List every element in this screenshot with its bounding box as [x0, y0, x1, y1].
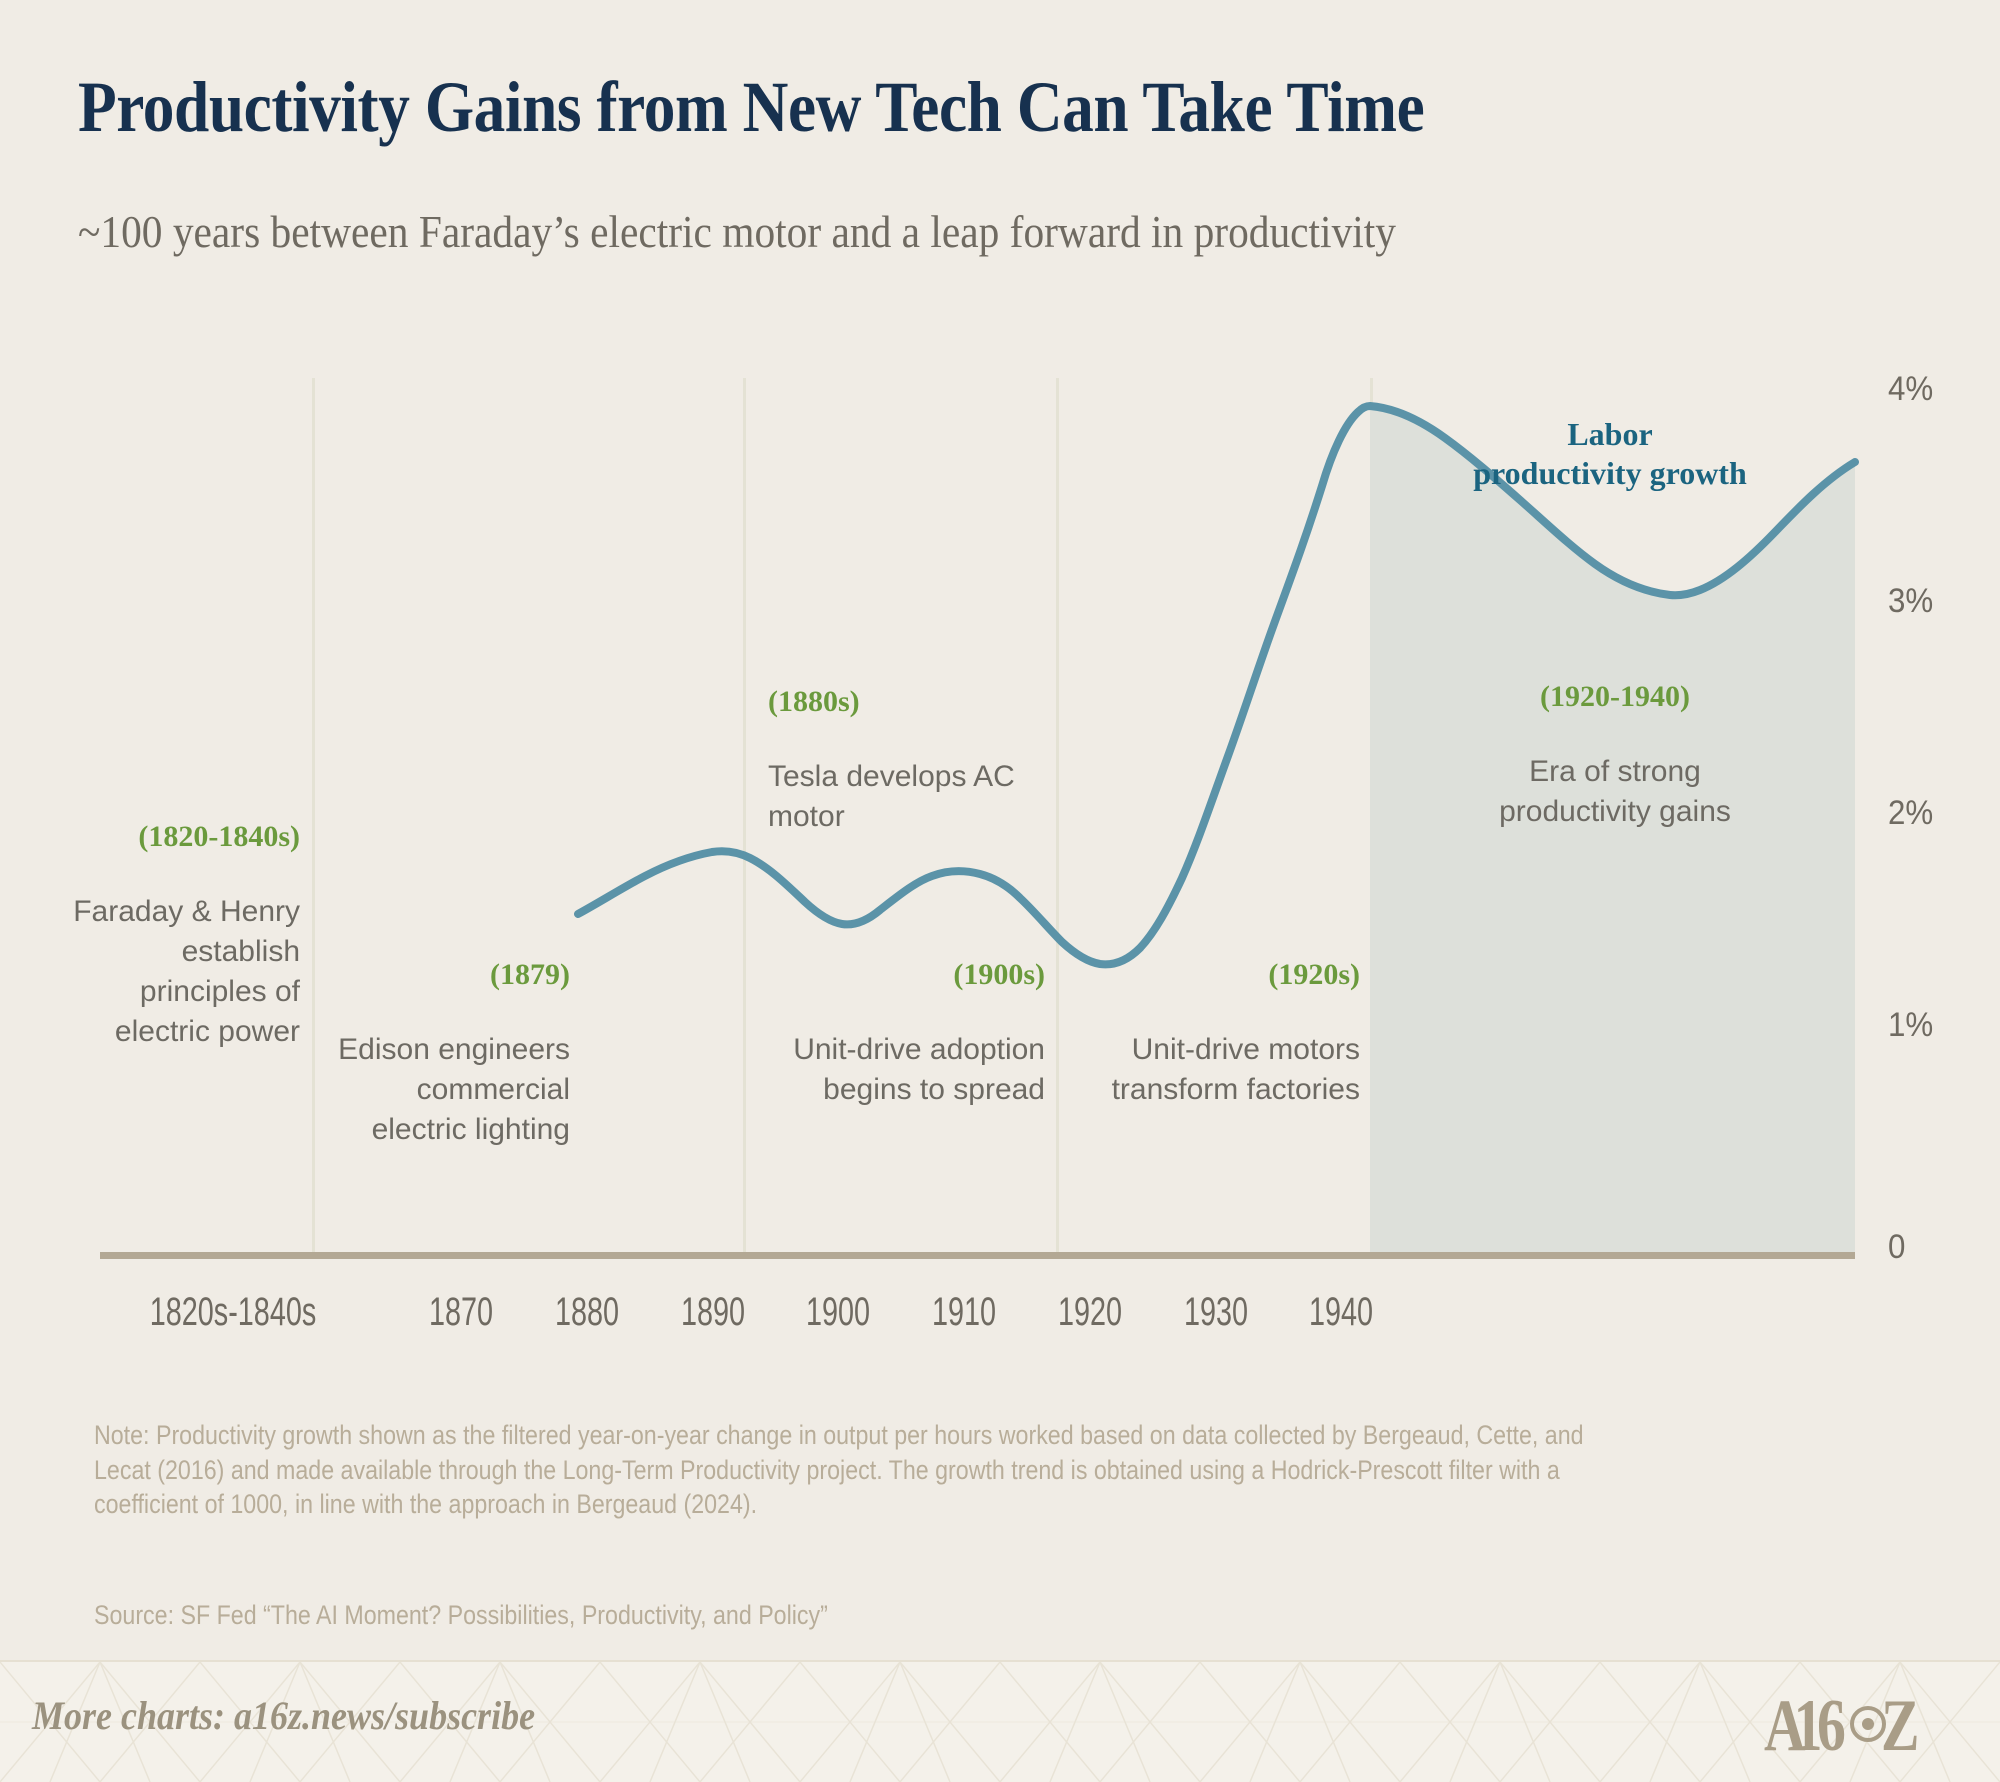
- annotation-year-label: (1880s): [768, 685, 1028, 719]
- x-tick-1890: 1890: [641, 1290, 785, 1335]
- x-tick-1880: 1880: [515, 1290, 659, 1335]
- annotation-1920-1940: (1920-1940) Era of strong productivity g…: [1465, 680, 1765, 832]
- x-tick-1900: 1900: [766, 1290, 910, 1335]
- chart-source: Source: SF Fed “The AI Moment? Possibili…: [94, 1600, 1642, 1631]
- annotation-1820-1840s: (1820-1840s) Faraday & Henry establish p…: [60, 820, 300, 1052]
- svg-text:Z: Z: [1881, 1685, 1920, 1762]
- annotation-body-text: Unit-drive adoption begins to spread: [790, 1030, 1045, 1110]
- y-tick-1pct: 1%: [1888, 1006, 1933, 1045]
- svg-text:6: 6: [1817, 1685, 1846, 1762]
- x-tick-1910: 1910: [892, 1290, 1036, 1335]
- annotation-year-label: (1920s): [1110, 958, 1360, 992]
- page-footer: More charts: a16z.news/subscribe A 1 6 Z: [0, 1660, 2000, 1782]
- annotation-1879: (1879) Edison engineers commercial elect…: [330, 958, 570, 1150]
- x-tick-1930: 1930: [1144, 1290, 1288, 1335]
- annotation-body-text: Era of strong productivity gains: [1465, 752, 1765, 832]
- y-tick-4pct: 4%: [1888, 370, 1933, 409]
- annotation-body-text: Edison engineers commercial electric lig…: [330, 1030, 570, 1150]
- annotation-1880s: (1880s) Tesla develops AC motor: [768, 685, 1028, 837]
- annotation-year-label: (1900s): [790, 958, 1045, 992]
- annotation-body-text: Unit-drive motors transform factories: [1110, 1030, 1360, 1110]
- x-tick-1870: 1870: [389, 1290, 533, 1335]
- legend-line-1: Labor: [1430, 415, 1790, 454]
- a16z-logo-icon: A 1 6 Z: [1764, 1684, 1964, 1762]
- annotation-body-text: Tesla develops AC motor: [768, 757, 1028, 837]
- x-tick-1940: 1940: [1269, 1290, 1413, 1335]
- x-tick-1820s-1840s: 1820s-1840s: [111, 1290, 356, 1335]
- annotation-body-text: Faraday & Henry establish principles of …: [60, 892, 300, 1052]
- annotation-1900s: (1900s) Unit-drive adoption begins to sp…: [790, 958, 1045, 1110]
- footer-subscribe-text[interactable]: More charts: a16z.news/subscribe: [32, 1692, 535, 1739]
- annotation-year-label: (1920-1940): [1465, 680, 1765, 714]
- annotation-year-label: (1879): [330, 958, 570, 992]
- series-legend-label: Labor productivity growth: [1430, 415, 1790, 493]
- annotation-year-label: (1820-1840s): [60, 820, 300, 854]
- y-tick-3pct: 3%: [1888, 582, 1933, 621]
- x-axis-line: [100, 1252, 1855, 1259]
- y-tick-0: 0: [1888, 1228, 1905, 1267]
- annotation-1920s: (1920s) Unit-drive motors transform fact…: [1110, 958, 1360, 1110]
- x-tick-1920: 1920: [1018, 1290, 1162, 1335]
- y-tick-2pct: 2%: [1888, 794, 1933, 833]
- legend-line-2: productivity growth: [1430, 454, 1790, 493]
- chart-note: Note: Productivity growth shown as the f…: [94, 1418, 1642, 1522]
